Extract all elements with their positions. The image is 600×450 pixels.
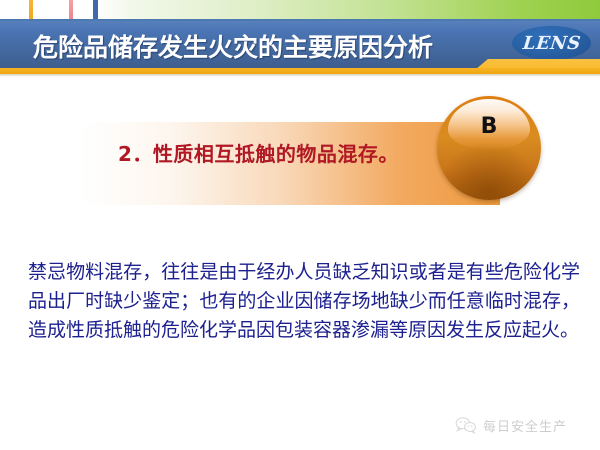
watermark: 每日安全生产	[455, 412, 580, 438]
blue-tick-mark	[93, 0, 98, 20]
wechat-icon	[455, 416, 477, 434]
pink-tick-mark	[69, 0, 73, 20]
orange-rule-shadow	[0, 74, 600, 77]
section-heading: 2．性质相互抵触的物品混存。	[118, 140, 418, 168]
body-paragraph: 禁忌物料混存，往往是由于经办人员缺乏知识或者是有些危险化学品出厂时缺少鉴定；也有…	[28, 258, 580, 345]
page-title: 危险品储存发生火灾的主要原因分析	[33, 26, 473, 66]
green-gradient-band	[93, 0, 600, 20]
slide-canvas: 危险品储存发生火灾的主要原因分析 LENS 2．性质相互抵触的物品混存。 B 禁…	[0, 0, 600, 450]
lens-logo-text: LENS	[521, 33, 581, 54]
orange-tick-mark	[29, 0, 33, 20]
lens-logo-badge: LENS	[512, 26, 591, 60]
top-decor-strip	[0, 0, 600, 20]
watermark-label: 每日安全生产	[483, 416, 567, 435]
section-marker-sphere: B	[437, 96, 541, 200]
section-marker-label: B	[437, 96, 541, 200]
